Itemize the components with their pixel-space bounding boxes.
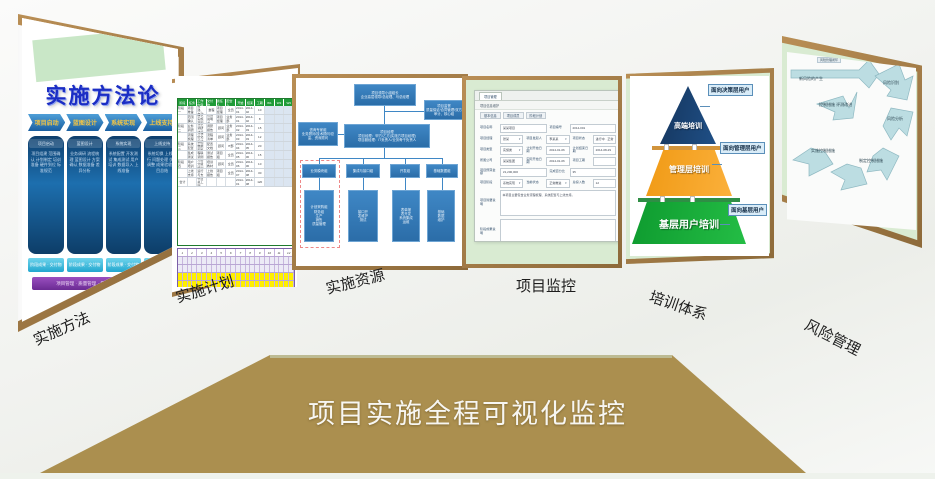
form-row: 阶段成果说明	[480, 219, 616, 243]
gantt-week: 4	[207, 249, 217, 256]
plan-cell: 2014-01	[236, 106, 246, 114]
column-body: 系统配置 开发测试 集成测试 用户培训 数据导入 上线准备	[107, 150, 141, 251]
plan-body: 阶段一项目准备项目组建、启动会章程项目经理全员2014-012014-0210范…	[178, 106, 294, 187]
training-pyramid: 高端培训 管理层培训 基层用户培训 面向决策层用户 面向管理层用户 面向基层用户	[630, 76, 769, 256]
poster-title: 实施方法论	[28, 80, 178, 110]
plan-cell: 10	[255, 106, 265, 114]
gantt-week: 3	[197, 249, 207, 256]
plan-cell: 上线报告	[207, 169, 217, 177]
plan-row: 合计项目总工期2014-012014-08120	[178, 178, 294, 187]
plan-cell	[217, 178, 227, 186]
field-input[interactable]: 李某某	[546, 135, 569, 144]
org-connector	[405, 178, 406, 190]
plan-cell	[275, 160, 285, 168]
form-row: 项目简要说明本项目主要包含业务流程梳理、系统配置与上线支持。	[480, 190, 616, 216]
plan-cell	[275, 124, 285, 132]
plan-cell: 章程	[207, 106, 217, 114]
org-chart: 项目领导小组组长 企业高层领导/总经理、马总经理项目监督 质量保证/合同管理/双…	[296, 78, 464, 266]
floor	[0, 355, 935, 479]
plan-cell: 范围确认	[188, 115, 198, 123]
field-input[interactable]: 2014-01-06	[546, 157, 569, 166]
field-input[interactable]: 2014-01-06	[546, 146, 569, 155]
plan-cell: 项目经理	[217, 115, 227, 123]
plan-cell: 流程梳理	[188, 133, 198, 141]
org-connector	[384, 111, 424, 112]
org-connector	[319, 158, 442, 159]
plan-cell	[265, 124, 275, 132]
plan-cell: 业务调研	[188, 124, 198, 132]
form-tab[interactable]: 项目成员	[503, 112, 524, 119]
risk-step-evaluate-improve: 控制措施 评测改进	[819, 102, 852, 108]
field-label: 项目预算金额	[480, 169, 497, 176]
label-project-monitoring: 项目监控	[516, 275, 576, 296]
monitor-app-window[interactable]: 项目管理 项目信息维护 基本信息 项目成员 阶段计划 项目名称某某项目项目编号2…	[474, 90, 618, 242]
plan-cell: 全员	[226, 106, 236, 114]
plan-header-cell: W1	[265, 99, 275, 106]
plan-cell: 2014-06	[246, 151, 256, 159]
field-label: 所属公司	[480, 159, 497, 163]
window-subheader: 项目信息维护	[475, 101, 618, 110]
plan-cell: 顾问	[217, 142, 227, 150]
plan-cell: 顾问	[217, 160, 227, 168]
plan-cell: 2014-05	[246, 142, 256, 150]
plan-cell: 阶段四	[178, 160, 188, 168]
gantt-week: 6	[226, 249, 236, 256]
column-header: 项目启动	[29, 139, 63, 148]
monitor-form[interactable]: 项目名称某某项目项目编号2014-001项目经理张某项目发起人李某某项目状态进行…	[475, 121, 618, 242]
form-row: 项目阶段系统实现当前状态正常推进总投入数12	[480, 179, 616, 188]
plan-cell: 2014-01	[236, 178, 246, 186]
panel-1-content: 实施方法论 项目启动 蓝图设计 系统实现 上线支持 项目启动 项目组建 范围确认…	[22, 18, 178, 328]
org-node-detail-business: 计划采购组 财务组 生产 销售 质量管理	[304, 190, 334, 242]
field-input[interactable]: 实施类	[500, 146, 523, 155]
plan-cell	[188, 178, 198, 186]
plan-cell: 全员	[226, 160, 236, 168]
room-scene: 项目实施全程可视化监控 实施方法论 项目启动 蓝图设计 系统实现 上线支持 项目…	[0, 0, 935, 479]
field-label: 计划开始日期	[526, 147, 543, 154]
poster-columns: 项目启动 项目组建 范围确认 计划制定 培训准备 硬件到位 标准规范 蓝图设计 …	[28, 136, 178, 254]
panel-implementation-resource[interactable]: 项目领导小组组长 企业高层领导/总经理、马总经理项目监督 质量保证/合同管理/双…	[292, 74, 468, 270]
plan-cell: 测试报告	[207, 151, 217, 159]
plan-cell: 30	[255, 169, 265, 177]
field-input[interactable]: 2014-08-29	[593, 146, 616, 155]
plan-header-cell: W2	[275, 99, 285, 106]
form-row: 所属公司某某集团实际开始日期2014-01-06项目工期	[480, 157, 616, 166]
field-label: 项目编号	[550, 126, 567, 130]
panel-5-content: 高端培训 管理层培训 基层用户培训 面向决策层用户 面向管理层用户 面向基层用户	[630, 76, 769, 256]
poster-column: 蓝图设计 业务调研 流程梳理 蓝图设计 方案确认 数据准备 差异分析	[67, 136, 103, 254]
plan-header-cell: 阶段	[178, 99, 188, 106]
field-label: 完成百分比	[550, 170, 567, 174]
plan-row: 阶段三系统配置基础数据配置配置文档顾问IT部2014-042014-0520	[178, 142, 294, 151]
plan-cell: 2014-05	[236, 151, 246, 159]
field-textarea[interactable]: 本项目主要包含业务流程梳理、系统配置与上线支持。	[500, 190, 616, 216]
gantt-cell	[289, 273, 294, 280]
form-row: 项目预算金额¥1,200,000完成百分比35	[480, 168, 616, 177]
risk-step-new-risk: 新风险的产生	[799, 76, 823, 82]
plan-cell: 2014-08	[246, 169, 256, 177]
plan-cell: 12	[255, 133, 265, 141]
plan-cell: 项目组	[217, 169, 227, 177]
callout-management-users: 面向管理层用户	[720, 142, 765, 154]
plan-cell: 项目组建、启动会	[197, 106, 207, 114]
phase-chevron: 项目启动	[28, 114, 65, 131]
form-row: 项目类型实施类计划开始日期2014-01-06计划结束日期2014-08-29	[480, 146, 616, 155]
field-input[interactable]: 35	[570, 168, 617, 177]
field-label: 项目简要说明	[480, 199, 497, 206]
plan-cell: 项目准备	[188, 106, 198, 114]
plan-cell: 全员	[226, 169, 236, 177]
field-label: 阶段成果说明	[480, 228, 497, 235]
risk-step-define-controls: 制定控制措施	[859, 158, 883, 164]
field-input[interactable]	[593, 157, 616, 166]
plan-cell	[207, 178, 217, 186]
plan-cell: 顾问	[217, 124, 227, 132]
org-connector	[363, 178, 364, 190]
plan-cell	[275, 151, 285, 159]
plan-cell: 2014-02	[236, 124, 246, 132]
form-row: 项目经理张某项目发起人李某某项目状态进行中 · 正常	[480, 135, 616, 144]
form-tab[interactable]: 基本信息	[480, 112, 501, 119]
panel-risk-management[interactable]: 风险管理闭环 新风险的产生 风险识别 风险分析	[782, 36, 922, 248]
plan-cell: 全流程联调测试	[197, 151, 207, 159]
plan-cell: 10	[255, 160, 265, 168]
gantt-week: 5	[217, 249, 227, 256]
plan-cell: 15	[255, 124, 265, 132]
plan-row: 阶段一项目准备项目组建、启动会章程项目经理全员2014-012014-0210	[178, 106, 294, 115]
plan-cell	[265, 160, 275, 168]
panel-2-content: 阶段任务工作内容交付物责任人配合人开始结束工期W1W2W3 阶段一项目准备项目组…	[175, 76, 297, 287]
panel-3-content: 项目领导小组组长 企业高层领导/总经理、马总经理项目监督 质量保证/合同管理/双…	[296, 78, 464, 266]
risk-step-identification: 风险识别	[883, 80, 899, 86]
plan-row: 流程梳理流程优化设计流程清单顾问业务部2014-032014-0312	[178, 133, 294, 142]
field-label: 项目类型	[480, 148, 497, 152]
plan-row: 上线支持上线运行与支持上线报告项目组全员2014-072014-0830	[178, 169, 294, 178]
form-row: 项目名称某某项目项目编号2014-001	[480, 124, 616, 133]
plan-header-row: 阶段任务工作内容交付物责任人配合人开始结束工期W1W2W3	[178, 99, 294, 106]
risk-step-implement-controls: 实施控制措施	[811, 148, 835, 154]
plan-cell	[275, 115, 285, 123]
org-node-detail-dev: 表单报 表开发 系统集成 运维	[392, 190, 420, 242]
plan-cell: 15	[255, 151, 265, 159]
field-label: 项目经理	[480, 137, 497, 141]
field-label: 项目状态	[573, 137, 590, 141]
plan-header-cell: 配合人	[226, 99, 236, 106]
column-body: 项目组建 范围确认 计划制定 培训准备 硬件到位 标准规范	[29, 150, 63, 251]
plan-cell: 2014-06	[236, 160, 246, 168]
org-connector	[384, 106, 385, 124]
gantt-header: 123456789101112	[178, 249, 294, 257]
plan-header-cell: 任务	[188, 99, 198, 106]
plan-cell: 流程优化设计	[197, 133, 207, 141]
plan-header-cell: 开始	[236, 99, 246, 106]
plan-cell: 业务部	[226, 133, 236, 141]
plan-cell: 顾问	[217, 133, 227, 141]
panel-6-content: 风险管理闭环 新风险的产生 风险识别 风险分析	[787, 52, 916, 230]
window-tabbar[interactable]: 项目管理	[475, 91, 618, 101]
deliverable-box: 阶段成果 · 交付物	[67, 258, 103, 272]
plan-cell	[275, 142, 285, 150]
plan-cell: 项目经理	[217, 106, 227, 114]
plan-cell: 范围说明书	[207, 115, 217, 123]
plan-header-cell: 责任人	[217, 99, 227, 106]
plan-row: 阶段四用户培训分层分级培训培训教材顾问全员2014-062014-0610	[178, 160, 294, 169]
field-label: 计划结束日期	[573, 147, 590, 154]
gantt-week: 1	[178, 249, 188, 256]
label-training-system: 培训体系	[647, 286, 711, 325]
field-label: 实际开始日期	[526, 158, 543, 165]
panel-implementation-plan[interactable]: 阶段任务工作内容交付物责任人配合人开始结束工期W1W2W3 阶段一项目准备项目组…	[172, 64, 300, 297]
plan-cell: 确认实施范围	[197, 115, 207, 123]
field-input[interactable]: ¥1,200,000	[500, 168, 547, 177]
field-label: 总投入数	[573, 181, 590, 185]
methodology-poster: 实施方法论 项目启动 蓝图设计 系统实现 上线支持 项目启动 项目组建 范围确认…	[22, 18, 178, 328]
field-input[interactable]: 系统实现	[500, 179, 523, 188]
gantt-week: 2	[188, 249, 198, 256]
plan-cell: 2014-07	[236, 169, 246, 177]
field-label: 项目工期	[573, 159, 590, 163]
plan-cell: 合计	[178, 178, 188, 186]
gantt-week: 10	[265, 249, 275, 256]
plan-header-cell: 结束	[246, 99, 256, 106]
plan-row: 阶段二业务调研现状调研访谈调研报告顾问业务部2014-022014-0315	[178, 124, 294, 133]
field-input[interactable]: 进行中 · 正常	[593, 135, 616, 144]
plan-cell: 上线运行与支持	[197, 169, 207, 177]
poster-column: 系统实现 系统配置 开发测试 集成测试 用户培训 数据导入 上线准备	[106, 136, 142, 254]
plan-cell: 阶段三	[178, 142, 188, 150]
plan-cell: 项目组	[217, 151, 227, 159]
plan-cell	[178, 115, 188, 123]
plan-cell: 系统配置	[188, 142, 198, 150]
poster-phase-chevrons: 项目启动 蓝图设计 系统实现 上线支持	[28, 114, 178, 131]
plan-cell	[178, 169, 188, 177]
field-input[interactable]: 2014-001	[570, 124, 617, 133]
org-node-detail-integration: 接口开 发维护 测试	[348, 190, 378, 242]
pyramid-cap	[638, 198, 740, 202]
plan-cell: 用户培训	[188, 160, 198, 168]
gantt-week: 9	[255, 249, 265, 256]
panel-training-system[interactable]: 高端培训 管理层培训 基层用户培训 面向决策层用户 面向管理层用户 面向基层用户	[626, 68, 774, 264]
plan-cell: 2014-03	[246, 133, 256, 141]
plan-cell	[265, 115, 275, 123]
field-input[interactable]: 某某项目	[500, 124, 547, 133]
callout-decision-users: 面向决策层用户	[708, 84, 753, 96]
form-tabs[interactable]: 基本信息 项目成员 阶段计划	[475, 110, 618, 121]
gantt-week: 7	[236, 249, 246, 256]
plan-cell: 现状调研访谈	[197, 124, 207, 132]
org-node-group-business: 业务模块组	[302, 164, 336, 178]
plan-cell: 2014-02	[246, 106, 256, 114]
field-input[interactable]: 某某集团	[500, 157, 523, 166]
org-connector	[442, 178, 443, 190]
plan-cell: 集成测试	[188, 151, 198, 159]
plan-cell: 2014-04	[236, 142, 246, 150]
org-node-detail-base: 基础 数据 维护	[427, 190, 455, 242]
plan-cell: 阶段二	[178, 124, 188, 132]
plan-cell: 120	[255, 178, 265, 186]
org-node-group-base: 基础数据组	[426, 164, 458, 178]
callout-base-users: 面向基层用户	[728, 204, 767, 216]
plan-cell: 基础数据配置	[197, 142, 207, 150]
plan-cell: 流程清单	[207, 133, 217, 141]
label-risk-management: 风险管理	[801, 314, 864, 360]
field-input[interactable]: 张某	[500, 135, 523, 144]
plan-cell	[275, 133, 285, 141]
org-node-project-manager: 项目经理 项目经理：甲方/乙方(实施方项目经理) 项目副经理：IT负责人/业务骨…	[344, 124, 430, 148]
plan-cell	[265, 178, 275, 186]
plan-cell: 项目总工期	[197, 178, 207, 186]
field-label: 项目名称	[480, 126, 497, 130]
plan-cell: 2014-06	[246, 160, 256, 168]
plan-cell: 上线支持	[188, 169, 198, 177]
deliverable-box: 阶段成果 · 交付物	[28, 258, 64, 272]
plan-cell: 业务部	[226, 115, 236, 123]
field-label: 项目阶段	[480, 181, 497, 185]
plan-cell	[265, 133, 275, 141]
plan-cell: 全员	[226, 151, 236, 159]
plan-cell: 配置文档	[207, 142, 217, 150]
org-node-group-dev: 开发组	[390, 164, 420, 178]
plan-cell: 8	[255, 115, 265, 123]
phase-chevron: 系统实现	[105, 114, 142, 131]
plan-cell: 2014-03	[246, 124, 256, 132]
gantt-cell	[289, 281, 294, 287]
plan-header-cell: 交付物	[207, 99, 217, 106]
plan-cell: 2014-02	[246, 115, 256, 123]
org-connector	[384, 148, 385, 158]
gantt-week: 11	[275, 249, 285, 256]
plan-cell: 阶段一	[178, 106, 188, 114]
plan-cell: 调研报告	[207, 124, 217, 132]
window-tab[interactable]: 项目管理	[479, 92, 502, 100]
plan-cell	[178, 133, 188, 141]
panel-4-content: 项目管理 项目信息维护 基本信息 项目成员 阶段计划 项目名称某某项目项目编号2…	[466, 80, 618, 264]
field-input[interactable]: 正常推进	[546, 179, 569, 188]
org-node-quality-supervision: 项目监督 质量保证/合同管理/双方 审计、核心组	[424, 100, 464, 120]
org-node-group-integration: 集成与接口组	[346, 164, 380, 178]
field-input[interactable]: 12	[593, 179, 616, 188]
field-label: 项目发起人	[526, 137, 543, 141]
gantt-row	[178, 265, 294, 273]
poster-column: 项目启动 项目组建 范围确认 计划制定 培训准备 硬件到位 标准规范	[28, 136, 64, 254]
plan-cell	[275, 106, 285, 114]
field-label: 当前状态	[526, 181, 543, 185]
plan-cell: 2014-08	[246, 178, 256, 186]
phase-chevron: 蓝图设计	[66, 114, 103, 131]
plan-row: 集成测试全流程联调测试测试报告项目组全员2014-052014-0615	[178, 151, 294, 160]
plan-cell	[265, 169, 275, 177]
risk-cycle-diagram: 风险管理闭环 新风险的产生 风险识别 风险分析	[787, 52, 916, 230]
field-textarea[interactable]	[500, 219, 616, 243]
panel-project-monitoring[interactable]: 项目管理 项目信息维护 基本信息 项目成员 阶段计划 项目名称某某项目项目编号2…	[462, 76, 622, 268]
pyramid-tier-management: 管理层培训	[646, 150, 732, 196]
plan-cell: 20	[255, 142, 265, 150]
risk-step-analysis: 风险分析	[887, 116, 903, 122]
gantt-row	[178, 257, 294, 265]
plan-cell: IT部	[226, 142, 236, 150]
plan-cell	[275, 178, 285, 186]
org-node-consulting-expert: 咨询专家组 业务顾问/技术顾问/总监、资深顾问	[298, 122, 338, 146]
panel-implementation-method[interactable]: 实施方法论 项目启动 蓝图设计 系统实现 上线支持 项目启动 项目组建 范围确认…	[18, 14, 184, 332]
poster-green-block	[32, 28, 165, 82]
plan-cell: 2014-01	[236, 115, 246, 123]
plan-cell	[265, 142, 275, 150]
column-header: 系统实现	[107, 139, 141, 148]
plan-cell	[265, 151, 275, 159]
org-node-steering-committee: 项目领导小组组长 企业高层领导/总经理、马总经理	[354, 84, 416, 106]
plan-cell	[265, 106, 275, 114]
plan-header-cell: 工期	[255, 99, 265, 106]
plan-row: 范围确认确认实施范围范围说明书项目经理业务部2014-012014-028	[178, 115, 294, 124]
plan-header-cell: 工作内容	[197, 99, 207, 106]
plan-cell: 培训教材	[207, 160, 217, 168]
plan-spreadsheet: 阶段任务工作内容交付物责任人配合人开始结束工期W1W2W3 阶段一项目准备项目组…	[177, 98, 295, 246]
gantt-week: 8	[246, 249, 256, 256]
plan-cell: 分层分级培训	[197, 160, 207, 168]
plan-cell	[275, 169, 285, 177]
column-header: 蓝图设计	[68, 139, 102, 148]
plan-cell	[178, 151, 188, 159]
plan-cell	[226, 178, 236, 186]
column-body: 业务调研 流程梳理 蓝图设计 方案确认 数据准备 差异分析	[68, 150, 102, 251]
plan-cell: 业务部	[226, 124, 236, 132]
plan-cell: 2014-03	[236, 133, 246, 141]
form-tab[interactable]: 阶段计划	[526, 112, 547, 119]
